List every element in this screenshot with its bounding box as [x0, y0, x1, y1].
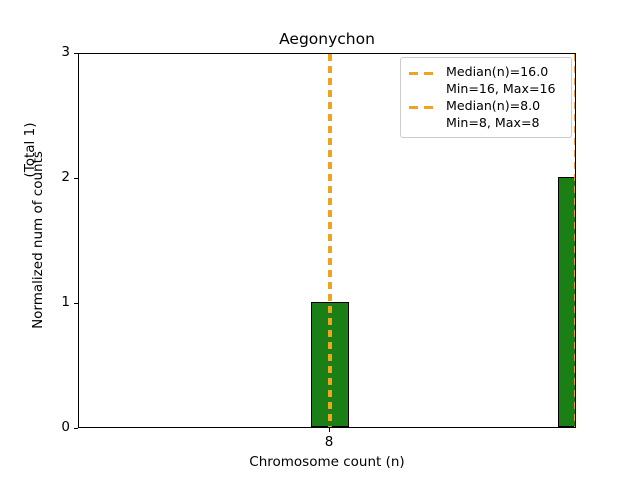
- legend-entry-1-line1: Median(n)=8.0: [446, 98, 540, 113]
- legend-entry-1-line2: Min=8, Max=8: [446, 115, 540, 130]
- x-tick-label-8: 8: [314, 436, 344, 450]
- legend-entry-0: Median(n)=16.0 Min=16, Max=16: [409, 64, 563, 97]
- y-axis-label: Normalized num of counts (Total 1): [0, 53, 40, 428]
- y-tick-label-2: 2: [56, 171, 70, 185]
- median-line-8: [328, 54, 331, 427]
- y-axis-label-secondary: (Total 1): [23, 15, 37, 285]
- legend-entry-0-line1: Median(n)=16.0: [446, 64, 548, 79]
- dashed-line-icon: [409, 98, 439, 116]
- dashed-line-icon: [409, 64, 439, 82]
- legend-entry-0-line2: Min=16, Max=16: [446, 81, 556, 96]
- y-tick-label-3: 3: [56, 46, 70, 60]
- y-tick-label-0: 0: [56, 421, 70, 435]
- legend-entry-0-text: Median(n)=16.0 Min=16, Max=16: [446, 64, 556, 97]
- chart-figure: Aegonychon Normalized num of counts (Tot…: [0, 0, 640, 480]
- y-tick-mark-0: [74, 428, 78, 429]
- legend-entry-1-text: Median(n)=8.0 Min=8, Max=8: [446, 98, 540, 131]
- legend: Median(n)=16.0 Min=16, Max=16 Median(n)=…: [400, 57, 572, 138]
- median-line-16: [574, 54, 577, 427]
- y-tick-label-1: 1: [56, 296, 70, 310]
- chart-title: Aegonychon: [78, 29, 576, 49]
- legend-entry-1: Median(n)=8.0 Min=8, Max=8: [409, 98, 563, 131]
- x-tick-mark-8: [329, 428, 330, 432]
- x-axis-label: Chromosome count (n): [78, 455, 576, 470]
